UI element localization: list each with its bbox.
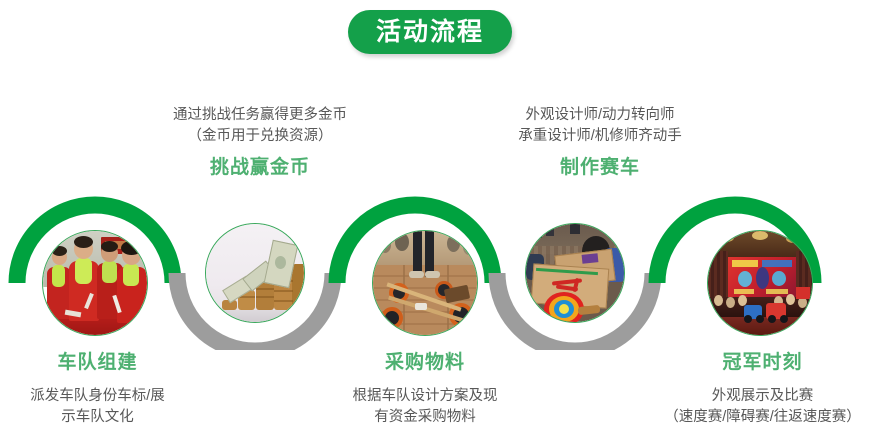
step-4-text-block: 外观设计师/动力转向师 承重设计师/机修师齐动手 制作赛车 [465, 105, 735, 182]
page-title-badge: 活动流程 [348, 10, 512, 54]
champion-moment-photo [707, 230, 813, 336]
coins-challenge-photo [205, 223, 305, 323]
step-5-title: 冠军时刻 [640, 350, 880, 377]
step-5-description: 外观展示及比赛 （速度赛/障碍赛/往返速度赛） [640, 386, 880, 427]
step-3-text-block: 采购物料 根据车队设计方案及现 有资金采购物料 [315, 350, 535, 427]
step-5-text-block: 冠军时刻 外观展示及比赛 （速度赛/障碍赛/往返速度赛） [640, 350, 880, 427]
step-4-title: 制作赛车 [465, 155, 735, 182]
step-2-title: 挑战赢金币 [130, 155, 390, 182]
step-3-title: 采购物料 [315, 350, 535, 377]
step-3-description: 根据车队设计方案及现 有资金采购物料 [315, 386, 535, 427]
step-1-description: 派发车队身份车标/展 示车队文化 [0, 386, 205, 427]
team-building-photo [42, 230, 148, 336]
page-title: 活动流程 [376, 20, 484, 45]
step-4-description: 外观设计师/动力转向师 承重设计师/机修师齐动手 [465, 105, 735, 146]
purchase-materials-photo [372, 230, 478, 336]
step-1-title: 车队组建 [0, 350, 205, 377]
build-racecar-photo [525, 223, 625, 323]
step-2-description: 通过挑战任务赢得更多金币 （金币用于兑换资源） [130, 105, 390, 146]
activity-flow-infographic: 活动流程 [0, 0, 880, 445]
step-1-text-block: 车队组建 派发车队身份车标/展 示车队文化 [0, 350, 205, 427]
step-2-text-block: 通过挑战任务赢得更多金币 （金币用于兑换资源） 挑战赢金币 [130, 105, 390, 182]
